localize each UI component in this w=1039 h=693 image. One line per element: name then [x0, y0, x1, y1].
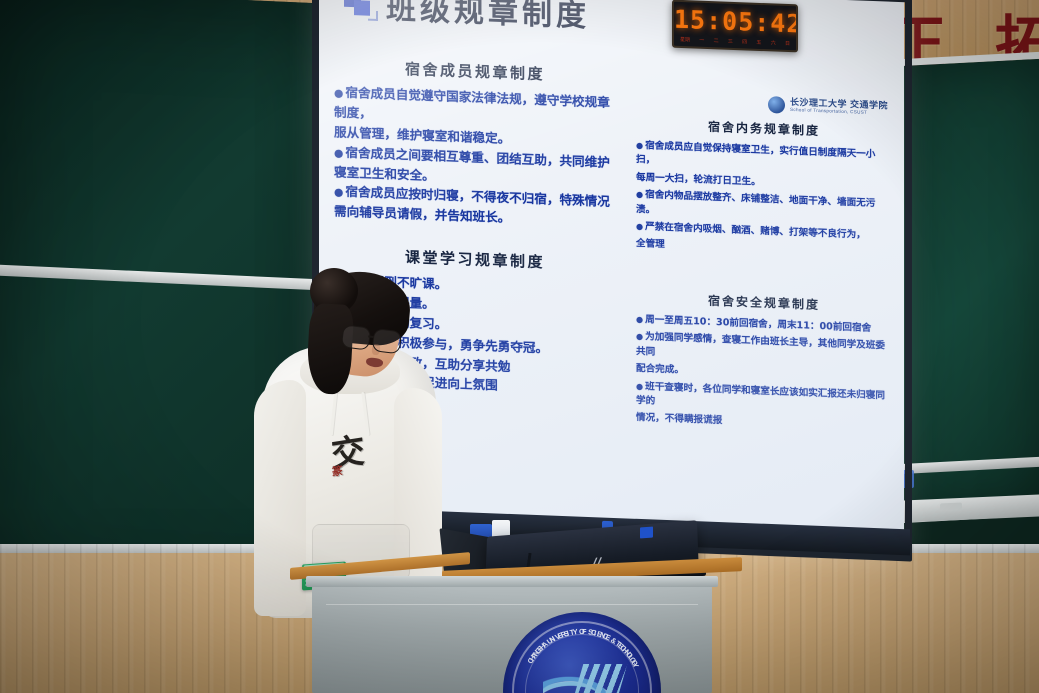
clock-weekday-label: 六: [771, 39, 776, 46]
lectern-top-edge: [306, 576, 718, 587]
clock-weekday-label: 五: [756, 39, 761, 46]
clock-weekday-label: 日: [785, 40, 790, 47]
clock-weekday-row: 星期 一 二 三 四 五 六 日: [680, 36, 790, 47]
blue-clip-icon: [640, 526, 653, 538]
blackboard-divider: [0, 265, 324, 291]
clock-weekday-label: 四: [742, 38, 747, 45]
blackboard-right-frame: [897, 51, 1039, 524]
led-wall-clock: 15:05:42 星期 一 二 三 四 五 六 日: [672, 0, 798, 52]
clock-weekday-label: 星期: [680, 36, 690, 43]
university-seal: CHANGSHA UNIVERSITY OF SCIENCE & TECHNOL…: [503, 612, 661, 693]
seal-bars-graphic: [575, 664, 628, 693]
clock-weekday-label: 三: [728, 38, 733, 45]
classroom-scene: 守正 拓新 班级规章制度 长沙理工大学 交通学院: [0, 0, 1039, 693]
glasses-left-lens: [341, 324, 372, 350]
clock-weekday-label: 二: [714, 37, 719, 44]
clock-weekday-label: 一: [699, 37, 704, 44]
clock-time: 15:05:42: [674, 5, 796, 39]
hoodie-calligraphy-print: 交篆: [330, 430, 409, 526]
hoodie-left-sleeve: [254, 380, 306, 616]
blackboard-eraser: [940, 503, 962, 511]
blackboard-right: [904, 58, 1039, 516]
glasses-right-lens: [372, 328, 403, 354]
